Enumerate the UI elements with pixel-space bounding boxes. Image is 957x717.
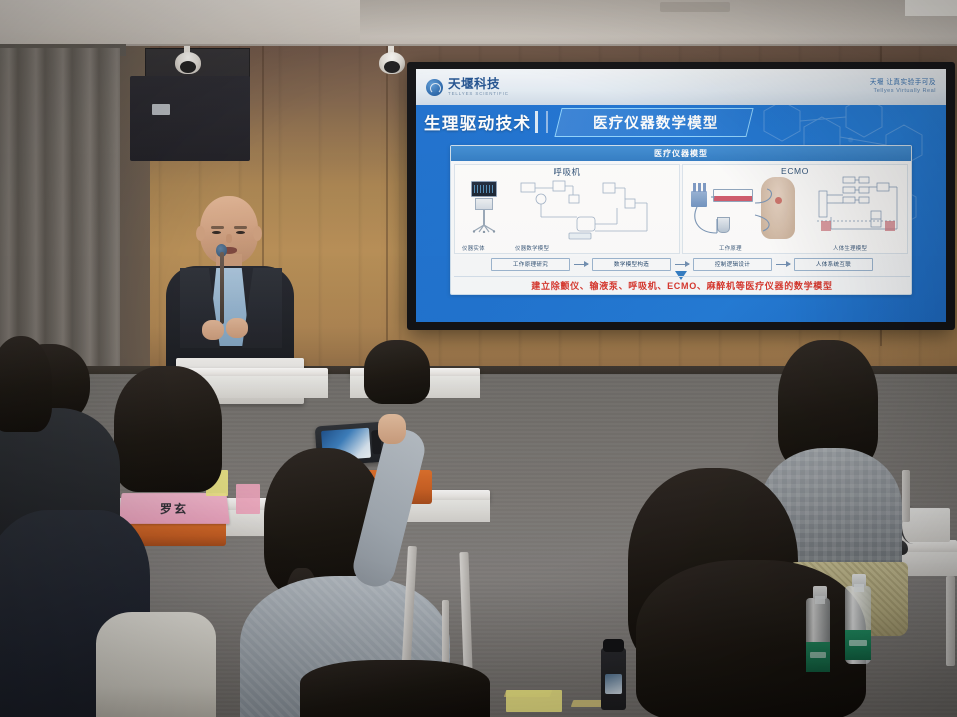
audience-person-foreground: [96, 612, 226, 717]
brand-name-en: TELLYES SCIENTIFIC: [448, 92, 509, 96]
speaker-logo: [152, 104, 170, 115]
ceiling-light: [905, 0, 957, 16]
water-bottle: [806, 598, 830, 668]
presenter-hand: [226, 318, 248, 338]
person-hair: [0, 336, 52, 432]
arrow-right-icon: [776, 264, 790, 265]
flow-step-4: 人体系统互联: [794, 258, 873, 271]
person-jacket: [96, 612, 216, 717]
lecture-photo-scene: 天堰科技 TELLYES SCIENTIFIC 天堰 让真实验手可及 Telly…: [0, 0, 957, 717]
presenter-brow: [234, 226, 247, 229]
audience-person: [0, 336, 60, 446]
jbl-speaker: [130, 76, 250, 161]
slide-subtitle-box: 医疗仪器数学模型: [555, 108, 754, 137]
ecmo-column: ECMO: [682, 164, 908, 254]
dome-camera-icon: [379, 52, 405, 74]
presenter-nose: [226, 234, 232, 243]
slide-title-sub: 医疗仪器数学模型: [593, 112, 719, 133]
ecmo-tubing: [687, 185, 803, 245]
brand-tagline: 天堰 让真实验手可及 Tellyes Virtually Real: [870, 79, 936, 94]
display-screen: 天堰科技 TELLYES SCIENTIFIC 天堰 让真实验手可及 Telly…: [416, 69, 946, 322]
desk-leg: [946, 576, 955, 666]
wall-seam: [386, 46, 388, 376]
presenter: [150, 196, 310, 381]
ceiling-vent: [660, 2, 730, 12]
gimbal-camera[interactable]: [601, 648, 626, 710]
presenter-brow: [211, 226, 224, 229]
person-hand: [378, 414, 406, 444]
gimbal-lens-icon: [603, 639, 624, 652]
panel-title: 医疗仪器模型: [451, 146, 911, 161]
desk-leg: [902, 470, 910, 522]
slide-header: 天堰科技 TELLYES SCIENTIFIC 天堰 让真实验手可及 Telly…: [416, 69, 946, 105]
presenter-eye: [212, 231, 221, 234]
sticky-note: [506, 690, 562, 712]
wall-display[interactable]: 天堰科技 TELLYES SCIENTIFIC 天堰 让真实验手可及 Telly…: [407, 62, 955, 330]
person-hair: [300, 660, 490, 717]
person-hair: [636, 560, 866, 717]
brand-logo: 天堰科技 TELLYES SCIENTIFIC: [426, 78, 509, 97]
brand-name-cn: 天堰科技: [448, 78, 509, 91]
process-flow: 工作原理研究 数学模型构造 控制逻辑设计 人体系统互联: [491, 257, 873, 271]
ecmo-caption-1: 工作原理: [719, 244, 742, 252]
audience-person-foreground: [300, 660, 500, 717]
slide-title-main: 生理驱动技术: [416, 110, 531, 134]
slide-conclusion: 建立除颤仪、输液泵、呼吸机、ECMO、麻醉机等医疗仪器的数学模型: [454, 276, 910, 294]
ventilator-column: 呼吸机: [454, 164, 680, 254]
audience-person: [358, 340, 438, 410]
physiology-model-diagram: [811, 171, 903, 251]
tellyes-logo-icon: [426, 79, 443, 96]
water-bottle: [845, 586, 871, 664]
dome-camera-icon: [175, 52, 201, 74]
presenter-ear: [253, 226, 262, 241]
title-divider: [535, 111, 538, 133]
device-columns: 呼吸机: [454, 164, 908, 254]
ventilator-caption-1: 仪器实体: [462, 244, 485, 252]
microphone-icon: [220, 252, 224, 324]
title-divider: [546, 111, 548, 133]
presenter-eye: [236, 231, 245, 234]
presentation-slide: 天堰科技 TELLYES SCIENTIFIC 天堰 让真实验手可及 Telly…: [416, 69, 946, 322]
tagline-en: Tellyes Virtually Real: [870, 88, 936, 95]
tagline-cn: 天堰 让真实验手可及: [870, 79, 936, 87]
ecmo-caption-2: 人体生理模型: [833, 244, 867, 252]
person-hair: [364, 340, 430, 404]
flow-step-3: 控制逻辑设计: [693, 258, 772, 271]
gimbal-screen: [605, 674, 622, 694]
arrow-right-icon: [675, 264, 689, 265]
window-curtain: [0, 48, 120, 378]
presenter-hand: [202, 320, 224, 340]
arrow-right-icon: [574, 264, 588, 265]
presenter-ear: [196, 226, 205, 241]
panel-body: 呼吸机: [451, 161, 911, 296]
slide-content-panel: 医疗仪器模型 呼吸机: [450, 145, 912, 295]
ventilator-caption-2: 仪器数学模型: [515, 244, 549, 252]
slide-title-row: 生理驱动技术 医疗仪器数学模型: [416, 105, 946, 139]
ventilator-schematic: [507, 173, 657, 245]
flow-step-1: 工作原理研究: [491, 258, 570, 271]
flow-step-2: 数学模型构造: [592, 258, 671, 271]
ventilator-device-illustration: [471, 181, 497, 233]
